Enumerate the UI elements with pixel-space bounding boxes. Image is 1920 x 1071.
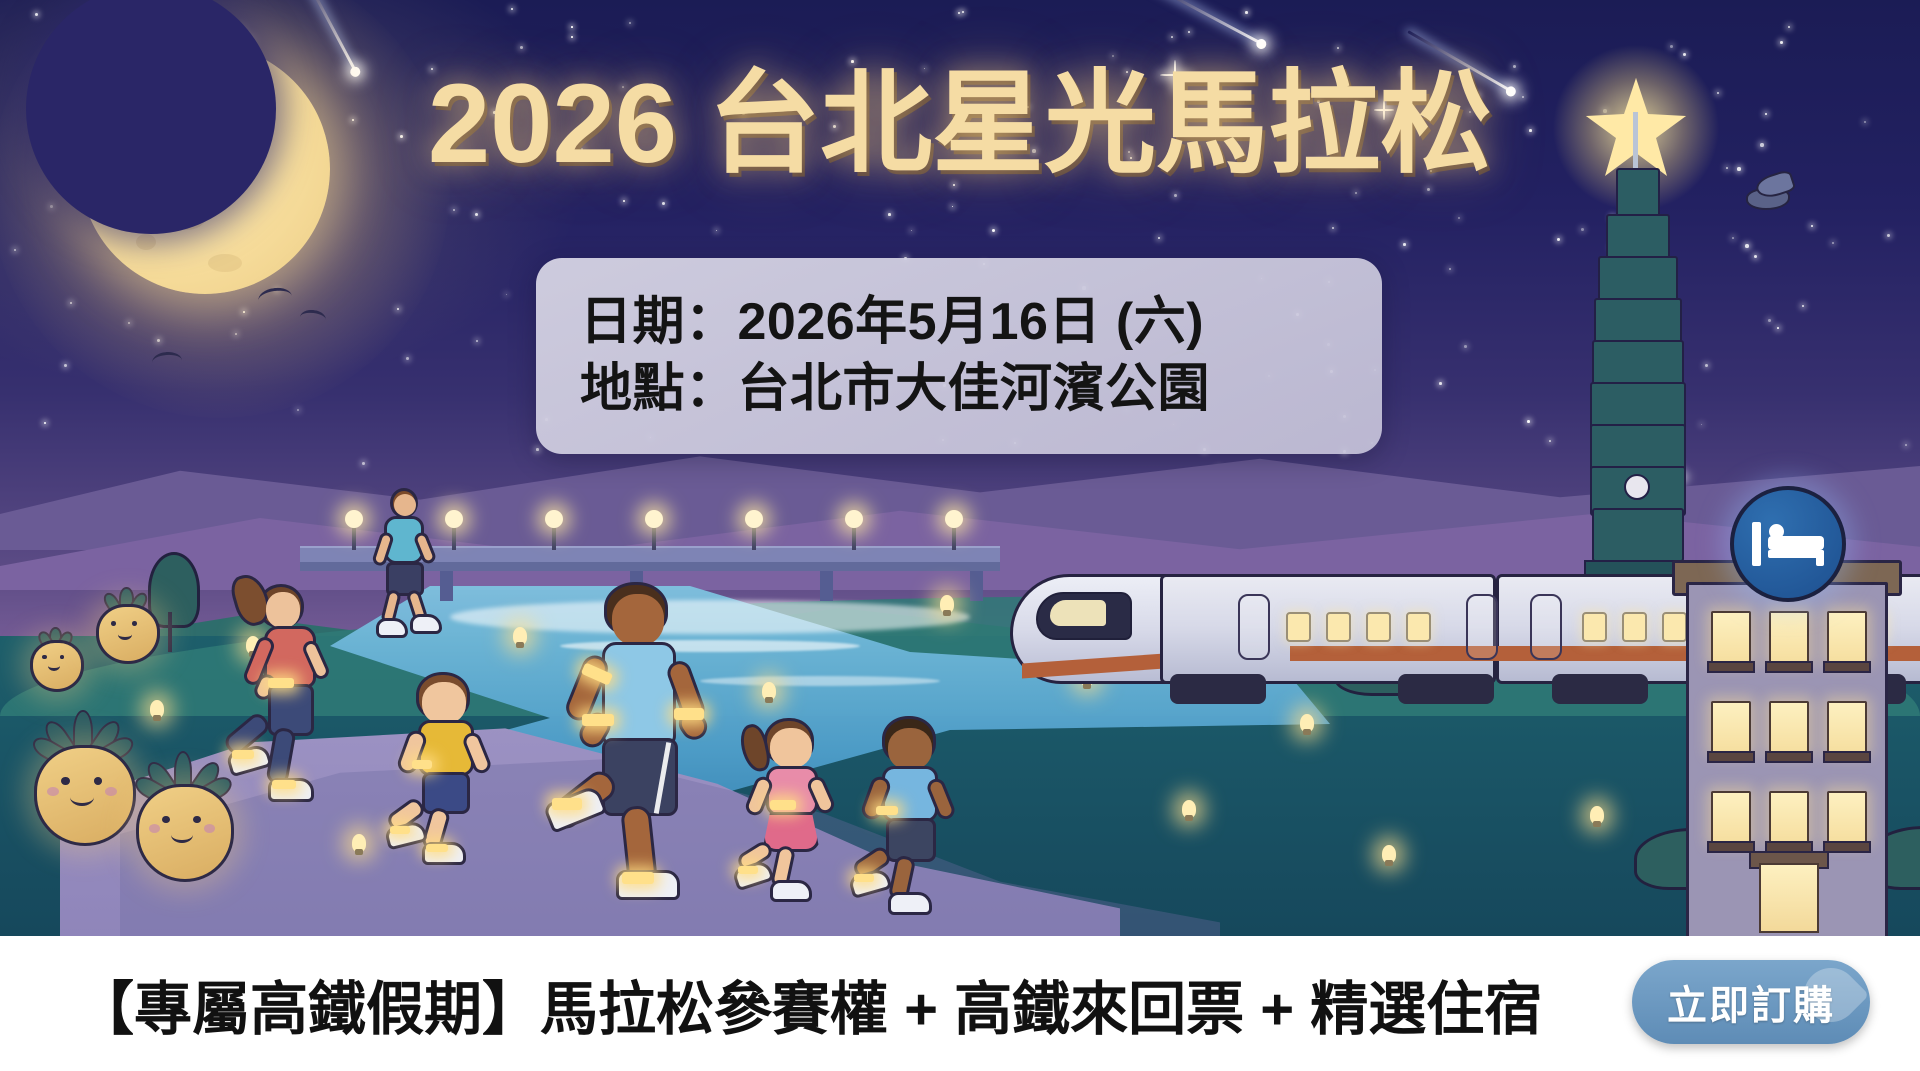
star — [1188, 31, 1190, 33]
star — [1683, 53, 1686, 56]
runner-shorts — [886, 818, 936, 862]
star — [1439, 382, 1442, 385]
star — [571, 26, 573, 28]
star — [1112, 55, 1114, 57]
path-lantern — [513, 627, 527, 645]
star — [1549, 440, 1551, 442]
star — [1158, 237, 1160, 239]
star — [475, 213, 478, 216]
path-lantern — [1590, 806, 1604, 824]
bird — [299, 309, 326, 326]
train-door — [1466, 594, 1498, 660]
star — [1905, 444, 1907, 446]
train-door — [1238, 594, 1270, 660]
event-location: 地點：台北市大佳河濱公園 — [580, 359, 1338, 420]
pineapple-mascot — [136, 764, 228, 876]
river-highlight — [700, 676, 940, 686]
star — [571, 36, 573, 38]
train-headlight — [1050, 600, 1106, 626]
path-lantern — [352, 834, 366, 852]
female-runner — [238, 570, 348, 810]
star — [1403, 243, 1406, 246]
background-runner — [370, 488, 440, 638]
pineapple-mascot — [30, 630, 78, 686]
hotel-facade — [1686, 582, 1888, 936]
order-now-button[interactable]: 立即訂購 — [1632, 960, 1870, 1044]
star — [297, 409, 299, 411]
star — [1464, 345, 1467, 348]
star — [1732, 237, 1734, 239]
runner-shorts — [422, 772, 470, 814]
bird — [151, 351, 182, 369]
star — [1337, 47, 1339, 49]
train-bogie — [1170, 674, 1266, 704]
hotel-entrance — [1759, 863, 1819, 933]
star — [1788, 26, 1790, 28]
star — [1780, 41, 1783, 44]
adult-male-runner — [560, 582, 730, 902]
star — [888, 213, 891, 216]
star — [453, 209, 455, 211]
star — [1581, 228, 1584, 231]
banner-title: 2026 台北星光馬拉松 — [0, 68, 1920, 180]
star — [1245, 11, 1248, 14]
star — [1527, 420, 1530, 423]
star — [362, 462, 365, 465]
runner-tank-top — [602, 642, 676, 746]
boy-runner-blue — [862, 716, 972, 916]
bird — [1740, 176, 1798, 210]
star — [1174, 194, 1177, 197]
path-lantern — [1300, 714, 1314, 732]
star — [1171, 36, 1173, 38]
train-door — [1530, 594, 1562, 660]
star — [1745, 244, 1749, 248]
train-bogie — [1398, 674, 1494, 704]
path-lantern — [1382, 845, 1396, 863]
event-info-card: 日期：2026年5月16日 (六) 地點：台北市大佳河濱公園 — [536, 258, 1382, 454]
star — [1811, 225, 1813, 227]
path-lantern — [940, 595, 954, 613]
path-lantern — [1182, 800, 1196, 818]
path-lantern — [150, 700, 164, 718]
star — [1777, 327, 1779, 329]
illustration-scene: 2026 台北星光馬拉松 日期：2026年5月16日 (六) 地點：台北市大佳河… — [0, 0, 1920, 936]
runner-pants — [268, 684, 314, 736]
hotel-bed-badge — [1730, 486, 1846, 602]
taipei-101-damper — [1624, 474, 1650, 500]
promo-text: 【專屬高鐵假期】馬拉松參賽權 + 高鐵來回票 + 精選住宿 — [76, 962, 1542, 1046]
train-bogie — [1552, 674, 1648, 704]
pineapple-mascot — [34, 724, 130, 840]
order-now-label: 立即訂購 — [1667, 973, 1835, 1031]
star — [1754, 255, 1757, 258]
event-date: 日期：2026年5月16日 (六) — [580, 292, 1338, 353]
tree-trunk — [168, 612, 172, 652]
bottom-promo-bar: 【專屬高鐵假期】馬拉松參賽權 + 高鐵來回票 + 精選住宿 立即訂購 — [0, 936, 1920, 1071]
runner-skirt — [762, 812, 820, 852]
boy-runner-yellow — [400, 672, 510, 872]
star — [536, 448, 539, 451]
hotel-building — [1686, 516, 1882, 936]
star — [476, 340, 478, 342]
taipei-101-tower — [1590, 168, 1682, 600]
path-lantern — [762, 682, 776, 700]
bed-icon — [1752, 522, 1824, 566]
pineapple-mascot — [96, 592, 154, 658]
marathon-promo-banner: 2026 台北星光馬拉松 日期：2026年5月16日 (六) 地點：台北市大佳河… — [0, 0, 1920, 1071]
girl-runner-pink — [740, 718, 850, 908]
